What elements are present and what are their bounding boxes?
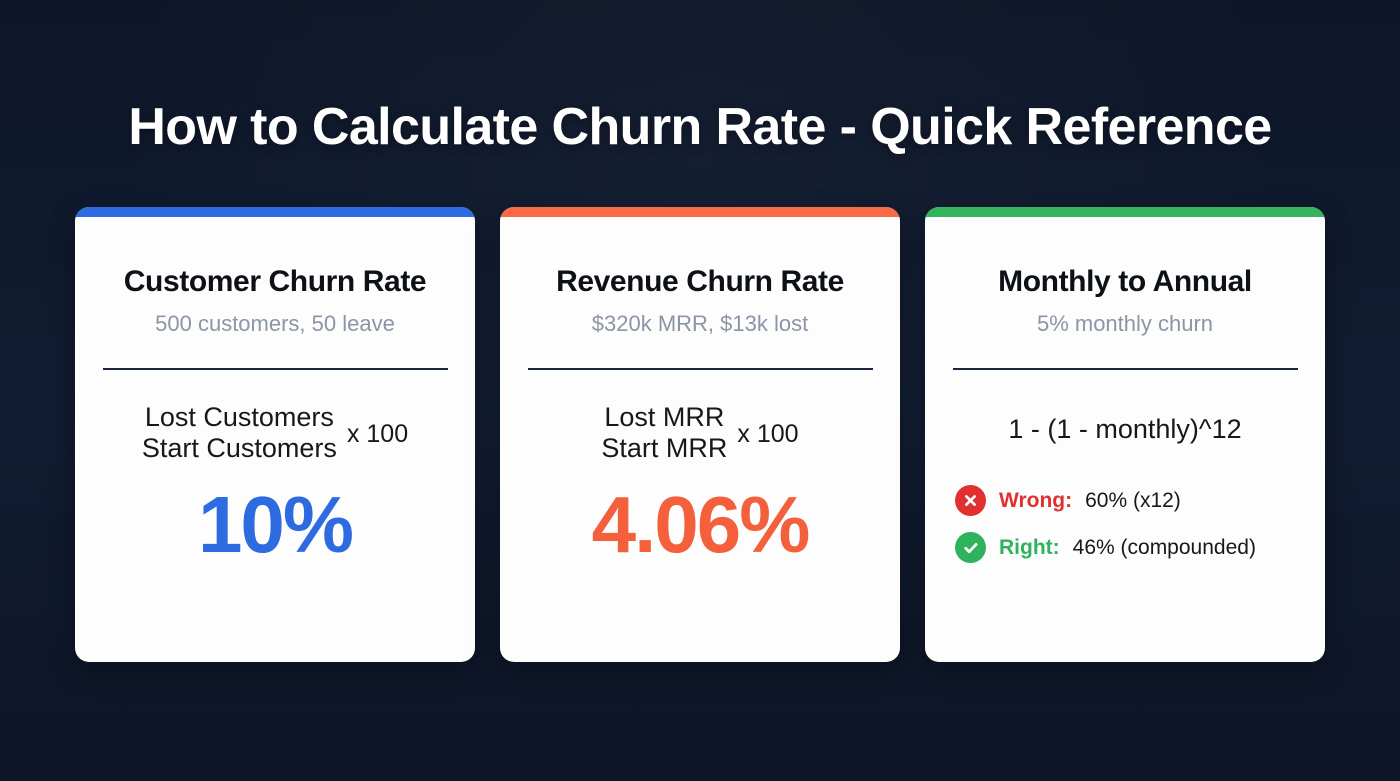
result-value: 4.06% — [592, 485, 809, 565]
card-accent-bar — [75, 207, 475, 217]
x-circle-icon — [955, 485, 986, 516]
card-title: Monthly to Annual — [998, 265, 1252, 299]
card-accent-bar — [925, 207, 1325, 217]
card-subtitle: $320k MRR, $13k lost — [592, 311, 808, 337]
card-monthly-to-annual: Monthly to Annual 5% monthly churn 1 - (… — [925, 207, 1325, 662]
comparison-list: Wrong: 60% (x12) Right: 46% (compounded) — [925, 485, 1325, 563]
card-accent-bar — [500, 207, 900, 217]
card-customer-churn-rate: Customer Churn Rate 500 customers, 50 le… — [75, 207, 475, 662]
formula-multiplier: x 100 — [737, 420, 798, 449]
card-row: Customer Churn Rate 500 customers, 50 le… — [75, 207, 1325, 662]
comparison-label: Wrong: — [999, 489, 1072, 513]
formula-block: Lost Customers Start Customers x 100 — [75, 402, 475, 465]
page-title: How to Calculate Churn Rate - Quick Refe… — [0, 97, 1400, 157]
formula-denominator: Start MRR — [601, 433, 727, 464]
formula-multiplier: x 100 — [347, 420, 408, 449]
result-value: 10% — [198, 485, 352, 565]
comparison-value: 46% (compounded) — [1073, 536, 1256, 560]
formula-expression: 1 - (1 - monthly)^12 — [1008, 414, 1241, 445]
card-title: Customer Churn Rate — [124, 265, 426, 299]
comparison-value: 60% (x12) — [1085, 489, 1181, 513]
formula-block: Lost MRR Start MRR x 100 — [500, 402, 900, 465]
comparison-row-wrong: Wrong: 60% (x12) — [955, 485, 1181, 516]
card-divider — [528, 368, 873, 370]
comparison-label: Right: — [999, 536, 1060, 560]
formula-denominator: Start Customers — [142, 433, 337, 464]
comparison-row-right: Right: 46% (compounded) — [955, 532, 1256, 563]
formula-fraction: Lost MRR Start MRR — [601, 402, 727, 465]
card-title: Revenue Churn Rate — [556, 265, 844, 299]
formula-numerator: Lost Customers — [145, 402, 334, 433]
infographic-page: How to Calculate Churn Rate - Quick Refe… — [0, 0, 1400, 781]
card-subtitle: 500 customers, 50 leave — [155, 311, 395, 337]
card-divider — [103, 368, 448, 370]
check-circle-icon — [955, 532, 986, 563]
card-revenue-churn-rate: Revenue Churn Rate $320k MRR, $13k lost … — [500, 207, 900, 662]
formula-fraction: Lost Customers Start Customers — [142, 402, 337, 465]
card-subtitle: 5% monthly churn — [1037, 311, 1213, 337]
formula-numerator: Lost MRR — [604, 402, 724, 433]
card-divider — [953, 368, 1298, 370]
